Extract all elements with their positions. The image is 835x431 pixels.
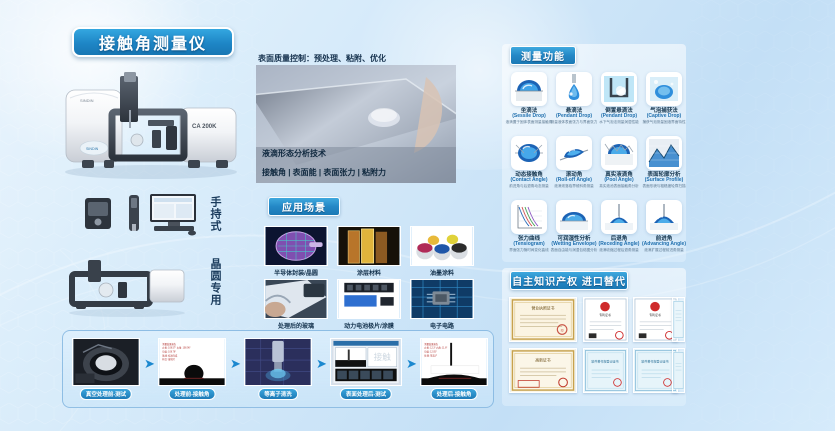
svg-text:营业执照证书: 营业执照证书 [532, 305, 555, 310]
application-section-label: 应用场景 [282, 199, 326, 214]
scene-semiconductor[interactable]: 半导体封装/晶圆 [264, 226, 328, 266]
flow-step-plasma-clean[interactable]: 等离子清洗 [244, 338, 312, 386]
flow-arrow-2: ➤ [230, 357, 241, 370]
scene-treated-glass[interactable]: 处理后的玻璃 [264, 279, 328, 319]
measure-label-capture-drop: 气泡捕获法 (Captive Drop) 捕获气泡测量固液界面特性 [638, 108, 690, 124]
scene-caption: 动力电池极片/涂膜 [337, 321, 401, 330]
svg-text:接触: 接触 [374, 351, 392, 362]
receding-angle-icon [601, 200, 637, 234]
flow-arrow-3: ➤ [316, 357, 327, 370]
label-wafer: 晶圆专用 [207, 258, 223, 306]
measure-label-advancing-angle: 前进角 (Advancing Angle) 液滴扩展过程前进角测量 [638, 236, 690, 252]
flow-step-post-contact-angle[interactable]: 测量结果报告左角: 12.3° 右角: 11.8° 均值: 12.05°处理: … [420, 338, 488, 386]
scene-caption: 电子电路 [410, 321, 474, 330]
wafer-instrument-image [62, 256, 192, 318]
measure-desc: 捕获气泡测量固液界面特性 [638, 120, 690, 124]
contact-angle-instrument-image: SINDIN SINDIN CA 200K [60, 68, 242, 180]
scene-electronic-circuit[interactable]: 电子电路 [410, 279, 474, 319]
measure-card-capture-drop[interactable] [646, 72, 682, 106]
svg-text:专利证书: 专利证书 [599, 312, 611, 317]
measure-card-tensiogram[interactable] [511, 200, 547, 234]
measure-card-wetting-envelope[interactable] [556, 200, 592, 234]
curve-chart-icon [511, 200, 547, 234]
wetting-env-icon [556, 200, 592, 234]
sessile-drop-icon [511, 72, 547, 106]
handheld-device-image [82, 196, 114, 232]
scene-caption: 油墨涂料 [410, 268, 474, 277]
pool-angle-icon [601, 136, 637, 170]
measure-card-captive-bubble[interactable] [601, 72, 637, 106]
droplet-analysis-photo [256, 65, 456, 183]
flow-step-caption: 处理前-接触角 [169, 388, 216, 400]
scene-thumb [410, 226, 474, 266]
measure-card-contact-angle[interactable] [511, 136, 547, 170]
certificate-patent-1[interactable]: 专利证书 [583, 297, 628, 342]
svg-text:SINDIN: SINDIN [86, 147, 99, 151]
scene-battery-electrode[interactable]: 动力电池极片/涂膜 [337, 279, 401, 319]
svg-text:高新证书: 高新证书 [535, 357, 550, 362]
certificate-software-1[interactable] [672, 297, 685, 342]
flow-arrow-1: ➤ [144, 357, 155, 370]
measure-card-receding-angle[interactable] [601, 200, 637, 234]
measure-desc: 表面形貌与粗糙度轮廓扫描 [638, 184, 690, 188]
certificate-software-2[interactable]: 软件著作权登记证书 [583, 348, 628, 393]
scene-caption: 涂层材料 [337, 268, 401, 277]
scene-caption: 处理后的玻璃 [264, 321, 328, 330]
measure-card-pendant-drop[interactable] [556, 72, 592, 106]
measure-card-sessile-drop[interactable] [511, 72, 547, 106]
flow-step-pre-contact-angle[interactable]: 测量结果报告左角: 108.57° 右角: 108.96° 均值: 108.76… [158, 338, 226, 386]
handheld-probe-image [124, 194, 144, 234]
application-section-header: 应用场景 [268, 197, 340, 216]
scene-caption: 半导体封装/晶圆 [264, 268, 328, 277]
svg-text:软件著作权登记证书: 软件著作权登记证书 [591, 358, 618, 363]
droplet-analysis-subheading: 液滴形态分析技术 [262, 148, 326, 159]
flow-step-caption: 等离子清洗 [258, 388, 298, 400]
advancing-angle-icon [646, 200, 682, 234]
device-model-text: CA 200K [192, 124, 217, 130]
surface-quality-heading: 表面质量控制：预处理、粘附、优化 [258, 53, 386, 64]
measure-card-surface-profile[interactable] [646, 136, 682, 170]
certificate-business-license[interactable]: 营业执照证书 印 [509, 297, 577, 342]
flow-step-image: 接触 [330, 338, 402, 386]
flow-step-image [72, 338, 140, 386]
page-title-label: 接触角测量仪 [99, 30, 207, 54]
svg-text:专利证书: 专利证书 [649, 312, 661, 317]
rolloff-angle-icon [556, 136, 592, 170]
surface-profile-icon [646, 136, 682, 170]
label-handheld: 手持式 [207, 196, 223, 232]
certificates-section-label: 自主知识产权 进口替代 [512, 273, 626, 288]
flow-step-caption: 处理后-接触角 [431, 388, 478, 400]
measure-card-rolloff-angle[interactable] [556, 136, 592, 170]
flow-step-caption: 真空处理前-测试 [80, 388, 132, 400]
certificate-software-4[interactable] [672, 348, 685, 393]
scene-coating-material[interactable]: 涂层材料 [337, 226, 401, 266]
scene-ink-coating[interactable]: 油墨涂料 [410, 226, 474, 266]
scene-thumb [264, 226, 328, 266]
contact-angle-icon [511, 136, 547, 170]
svg-text:SINDIN: SINDIN [80, 98, 94, 103]
measure-card-pool-angle[interactable] [601, 136, 637, 170]
svg-text:印: 印 [561, 327, 564, 332]
certificate-highnew[interactable]: 高新证书 [509, 348, 577, 393]
scene-thumb [337, 279, 401, 319]
capture-drop-icon [646, 72, 682, 106]
scene-thumb [264, 279, 328, 319]
flow-arrow-4: ➤ [406, 357, 417, 370]
page-title: 接触角测量仪 [72, 27, 234, 57]
measurement-section-label: 测量功能 [521, 48, 565, 63]
flow-step-image: 测量结果报告左角: 12.3° 右角: 11.8° 均值: 12.05°处理: … [420, 338, 488, 386]
flow-step-image [244, 338, 312, 386]
certificates-section-header: 自主知识产权 进口替代 [510, 271, 628, 290]
svg-text:软件著作权登记证书: 软件著作权登记证书 [641, 358, 668, 363]
captive-bubble-icon [601, 72, 637, 106]
droplet-metrics-text: 接触角 | 表面能 | 表面张力 | 粘附力 [262, 167, 386, 178]
measure-label-surface-profile: 表面轮廓分析 (Surface Profile) 表面形貌与粗糙度轮廓扫描 [638, 172, 690, 188]
flow-step-image: 测量结果报告左角: 108.57° 右角: 108.96° 均值: 108.76… [158, 338, 226, 386]
flow-step-caption: 表面处理后-测试 [340, 388, 392, 400]
flow-step-post-test[interactable]: 接触 表面处理后-测试 [330, 338, 402, 386]
flow-step-vacuum-pretest[interactable]: 真空处理前-测试 [72, 338, 140, 386]
pendant-drop-icon [556, 72, 592, 106]
poster-root: 接触角测量仪 SINDIN SINDIN CA 200K [0, 0, 835, 431]
scene-thumb [410, 279, 474, 319]
computer-workstation-image [148, 192, 200, 238]
measurement-section-header: 测量功能 [510, 46, 576, 65]
measure-card-advancing-angle[interactable] [646, 200, 682, 234]
measure-desc: 液滴扩展过程前进角测量 [638, 248, 690, 252]
scene-thumb [337, 226, 401, 266]
